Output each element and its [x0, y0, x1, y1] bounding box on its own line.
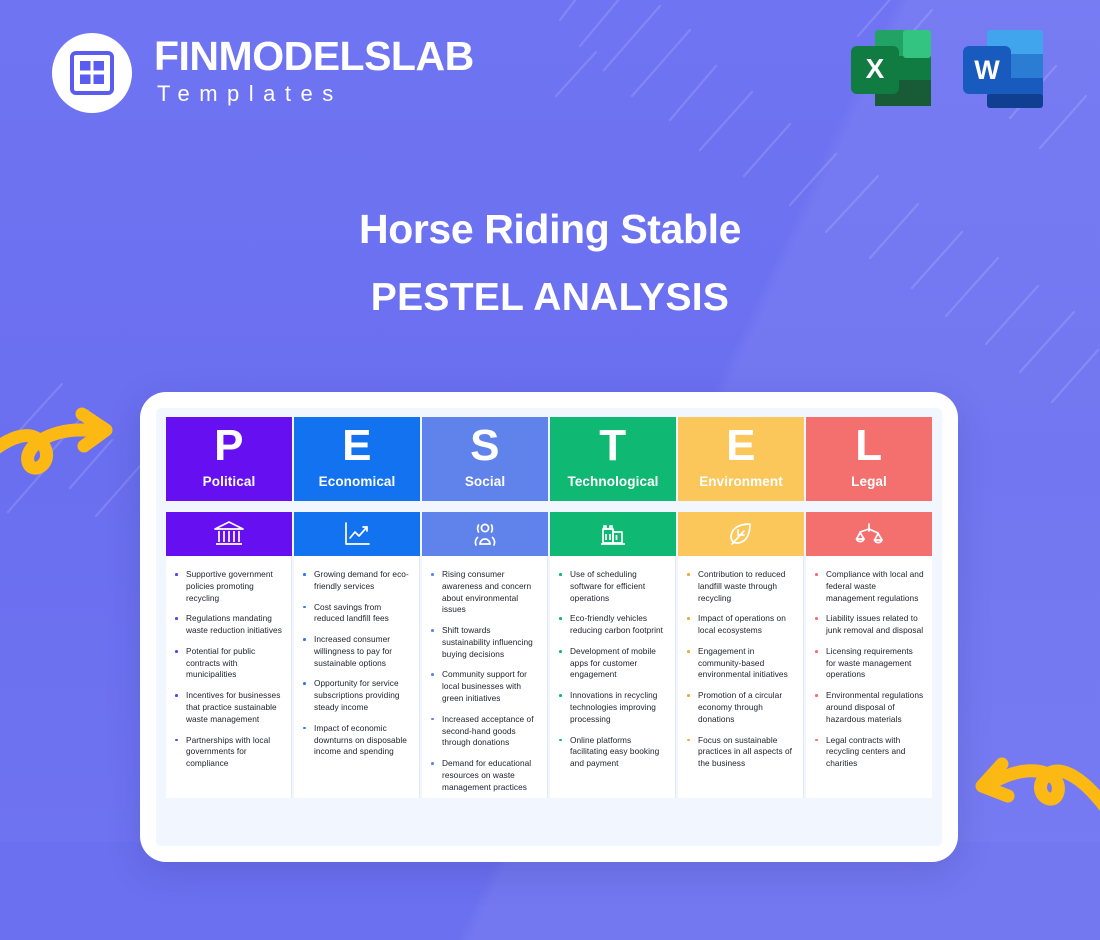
- pestel-body-political: Supportive government policies promoting…: [166, 556, 292, 798]
- pestel-body-legal: Compliance with local and federal waste …: [806, 556, 932, 798]
- list-item: Environmental regulations around disposa…: [813, 690, 924, 725]
- pestel-column-political: P Political Supportive government polici…: [166, 417, 292, 798]
- list-item: Increased consumer willingness to pay fo…: [301, 634, 411, 669]
- list-item: Use of scheduling software for efficient…: [557, 569, 667, 604]
- pestel-column-legal: L Legal Compliance with local a: [806, 417, 932, 798]
- list-item: Partnerships with local governments for …: [173, 735, 283, 770]
- page-title: Horse Riding Stable: [0, 200, 1100, 259]
- word-icon: W: [961, 26, 1045, 126]
- list-item: Growing demand for eco-friendly services: [301, 569, 411, 593]
- list-item: Focus on sustainable practices in all as…: [685, 735, 795, 770]
- pestel-header-social[interactable]: S Social: [422, 417, 548, 501]
- page-subtitle: PESTEL ANALYSIS: [0, 269, 1100, 328]
- bullet-list: Use of scheduling software for efficient…: [557, 569, 667, 770]
- bank-columns-icon: [166, 512, 292, 556]
- pestel-letter: E: [726, 425, 756, 467]
- pestel-letter: P: [214, 425, 244, 467]
- bullet-list: Compliance with local and federal waste …: [813, 569, 924, 770]
- list-item: Licensing requirements for waste managem…: [813, 646, 924, 681]
- list-item: Liability issues related to junk removal…: [813, 613, 924, 637]
- bullet-list: Growing demand for eco-friendly services…: [301, 569, 411, 758]
- pestel-letter: E: [342, 425, 372, 467]
- list-item: Demand for educational resources on wast…: [429, 758, 539, 793]
- title-block: Horse Riding Stable PESTEL ANALYSIS: [0, 200, 1100, 328]
- pestel-label: Legal: [851, 474, 887, 489]
- pestel-label: Political: [203, 474, 256, 489]
- list-item: Shift towards sustainability influencing…: [429, 625, 539, 660]
- pestel-grid: P Political Supportive government polici…: [166, 417, 932, 798]
- brand-logo: FINMODELSLAB Templates: [52, 33, 474, 113]
- factory-bar-chart-icon: [550, 512, 676, 556]
- pestel-letter: S: [470, 425, 500, 467]
- pestel-column-social: S Social Rising consumer awaren: [422, 417, 548, 798]
- pestel-label: Environment: [699, 474, 783, 489]
- brand-wordmark: FINMODELSLAB Templates: [154, 36, 474, 111]
- scales-balance-icon: [806, 512, 932, 556]
- pestel-label: Technological: [567, 474, 658, 489]
- list-item: Regulations mandating waste reduction in…: [173, 613, 283, 637]
- svg-text:W: W: [974, 55, 1000, 85]
- pestel-label: Social: [465, 474, 505, 489]
- tablet-screen: P Political Supportive government polici…: [156, 408, 942, 846]
- list-item: Innovations in recycling technologies im…: [557, 690, 667, 725]
- bullet-list: Supportive government policies promoting…: [173, 569, 283, 770]
- pestel-column-economical: E Economical Growing demand for eco-frie…: [294, 417, 420, 798]
- list-item: Contribution to reduced landfill waste t…: [685, 569, 795, 604]
- tablet-frame: P Political Supportive government polici…: [140, 392, 958, 862]
- list-item: Supportive government policies promoting…: [173, 569, 283, 604]
- pestel-header-economical[interactable]: E Economical: [294, 417, 420, 501]
- excel-icon: X: [849, 26, 933, 126]
- list-item: Cost savings from reduced landfill fees: [301, 602, 411, 626]
- list-item: Increased acceptance of second-hand good…: [429, 714, 539, 749]
- brand-name: FINMODELSLAB: [154, 36, 474, 78]
- list-item: Eco-friendly vehicles reducing carbon fo…: [557, 613, 667, 637]
- leaf-icon: [678, 512, 804, 556]
- pestel-body-technological: Use of scheduling software for efficient…: [550, 556, 676, 798]
- list-item: Impact of operations on local ecosystems: [685, 613, 795, 637]
- line-chart-icon: [294, 512, 420, 556]
- brand-subtitle: Templates: [154, 77, 474, 110]
- list-item: Impact of economic downturns on disposab…: [301, 723, 411, 758]
- svg-text:X: X: [866, 53, 885, 84]
- people-group-icon: [422, 512, 548, 556]
- list-item: Community support for local businesses w…: [429, 669, 539, 704]
- pestel-column-environment: E Environment Contribution to reduced la…: [678, 417, 804, 798]
- pestel-letter: L: [855, 425, 882, 467]
- list-item: Online platforms facilitating easy booki…: [557, 735, 667, 770]
- pestel-header-technological[interactable]: T Technological: [550, 417, 676, 501]
- pestel-header-environment[interactable]: E Environment: [678, 417, 804, 501]
- curvy-arrow-up-right-icon: [0, 404, 128, 499]
- pestel-label: Economical: [319, 474, 396, 489]
- list-item: Compliance with local and federal waste …: [813, 569, 924, 604]
- curvy-arrow-down-left-icon: [960, 748, 1100, 843]
- pestel-body-environment: Contribution to reduced landfill waste t…: [678, 556, 804, 798]
- list-item: Legal contracts with recycling centers a…: [813, 735, 924, 770]
- list-item: Opportunity for service subscriptions pr…: [301, 678, 411, 713]
- list-item: Promotion of a circular economy through …: [685, 690, 795, 725]
- pestel-header-legal[interactable]: L Legal: [806, 417, 932, 501]
- list-item: Potential for public contracts with muni…: [173, 646, 283, 681]
- list-item: Engagement in community-based environmen…: [685, 646, 795, 681]
- bullet-list: Contribution to reduced landfill waste t…: [685, 569, 795, 770]
- bullet-list: Rising consumer awareness and concern ab…: [429, 569, 539, 794]
- pestel-letter: T: [599, 425, 626, 467]
- office-file-format-icons: X W: [849, 26, 1045, 126]
- pestel-body-social: Rising consumer awareness and concern ab…: [422, 556, 548, 798]
- pestel-body-economical: Growing demand for eco-friendly services…: [294, 556, 420, 798]
- pestel-column-technological: T Technological Use of scheduling softwa…: [550, 417, 676, 798]
- pestel-header-political[interactable]: P Political: [166, 417, 292, 501]
- list-item: Incentives for businesses that practice …: [173, 690, 283, 725]
- list-item: Rising consumer awareness and concern ab…: [429, 569, 539, 616]
- list-item: Development of mobile apps for customer …: [557, 646, 667, 681]
- grid-squares-icon: [52, 33, 132, 113]
